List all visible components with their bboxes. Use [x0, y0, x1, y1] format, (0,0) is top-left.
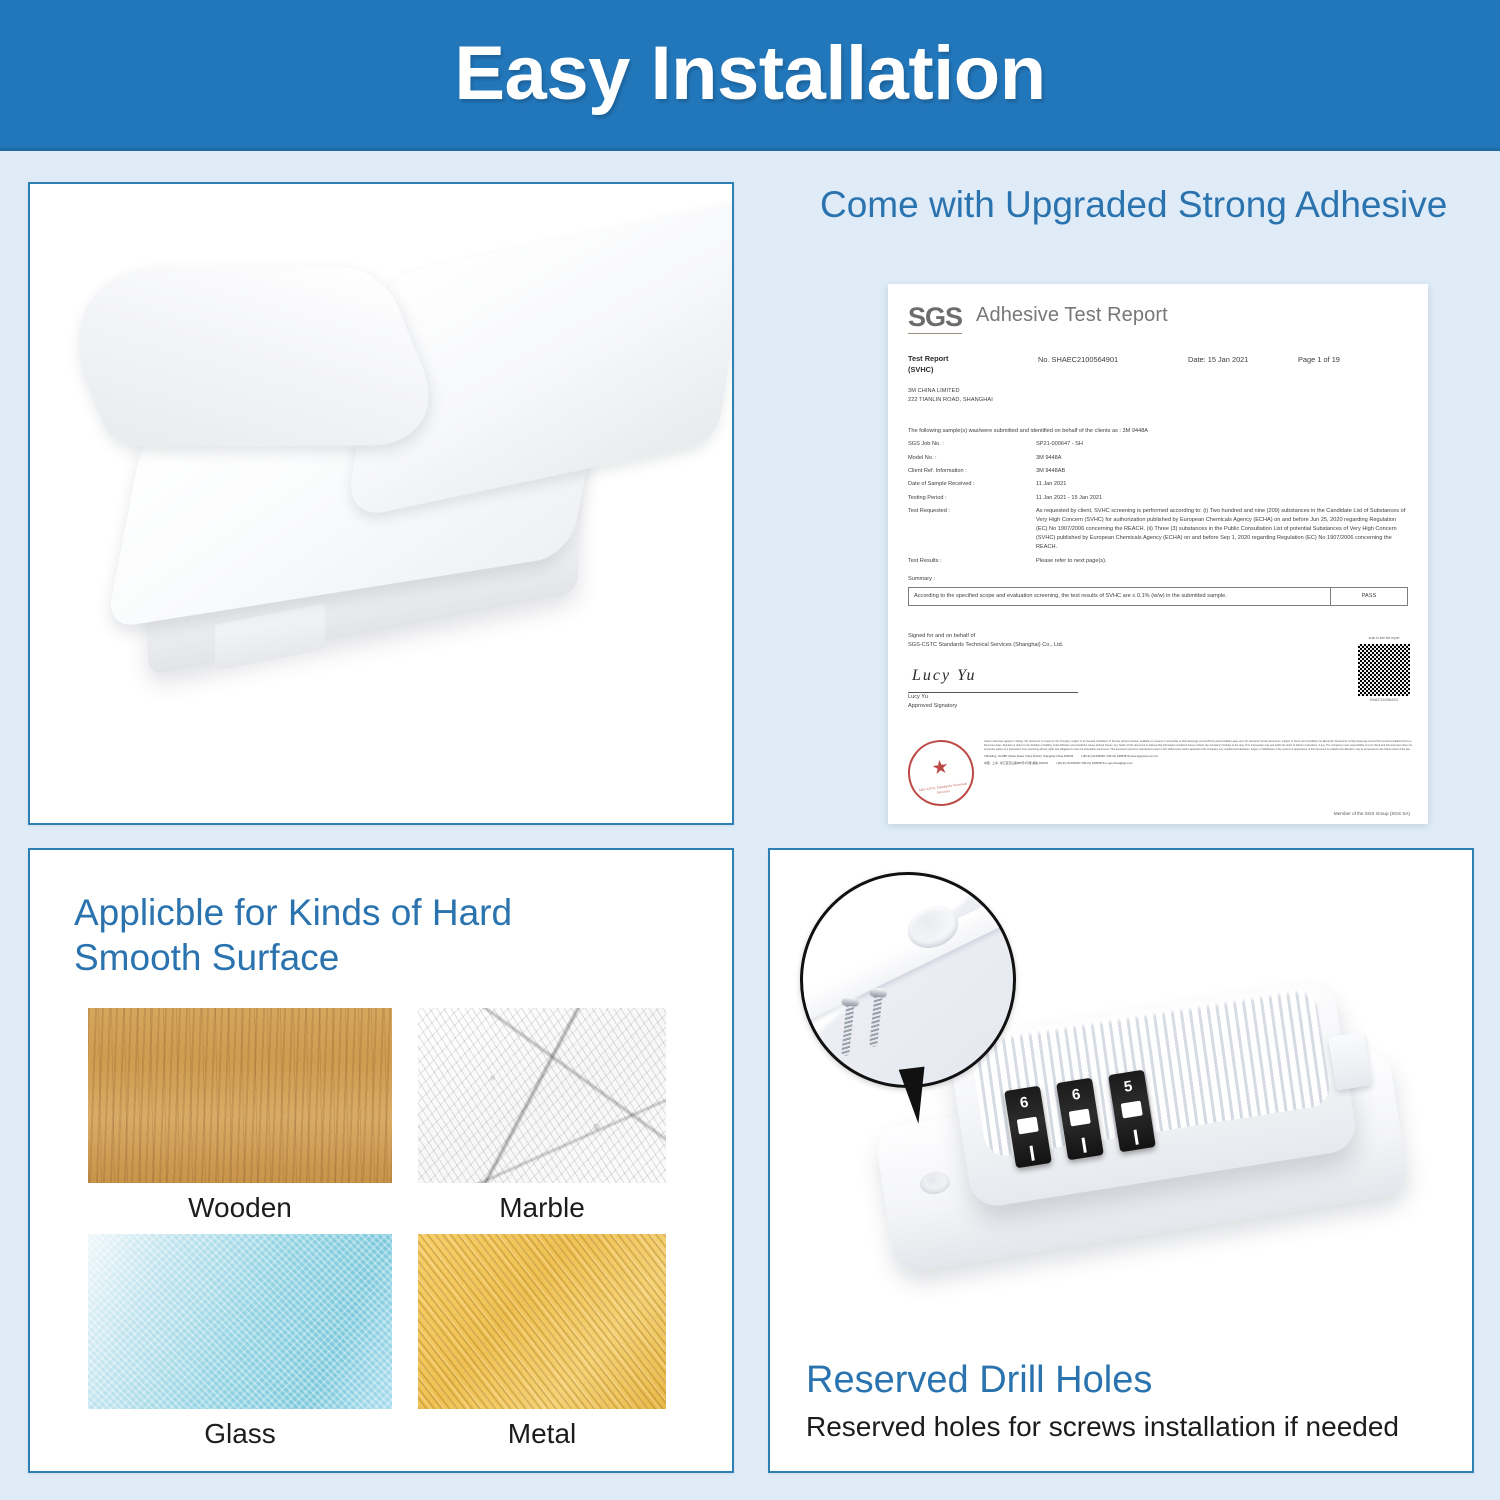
sgs-summary-label: Summary :	[908, 575, 1408, 583]
sgs-client-address: 3M CHINA LIMITED 222 TIANLIN ROAD, SHANG…	[908, 387, 1408, 404]
sgs-test-requested-value: As requested by client, SVHC screening i…	[1036, 507, 1408, 552]
sgs-test-results-key: Test Results :	[908, 557, 1036, 565]
swatch-item-wooden: Wooden	[88, 1008, 418, 1224]
screw-icon	[864, 987, 887, 1050]
sgs-field-row: Model No. : 3M 9448A	[908, 454, 1408, 462]
adhesive-product-illustration	[30, 184, 732, 823]
sgs-test-results-value: Please refer to next page(s).	[1036, 557, 1408, 565]
drill-holes-text-block: Reserved Drill Holes Reserved holes for …	[806, 1359, 1436, 1447]
swatch-item-metal: Metal	[418, 1234, 688, 1450]
sgs-contacts-row: 3 Building, No.889 Yishan Road, Xuhui Di…	[984, 754, 1412, 758]
swatch-label: Metal	[418, 1418, 666, 1450]
dial-digit: 6	[1019, 1095, 1030, 1111]
marble-texture-swatch	[418, 1008, 666, 1183]
dial-notch	[1133, 1130, 1138, 1145]
page-header: Easy Installation	[0, 0, 1500, 148]
dial-window	[1069, 1109, 1091, 1127]
swatch-item-glass: Glass	[88, 1234, 418, 1450]
dial-window	[1017, 1117, 1039, 1135]
sgs-field-value: 3M 9448AB	[1036, 467, 1408, 475]
sgs-field-value: 11 Jan 2021	[1036, 480, 1408, 488]
swatch-item-marble: Marble	[418, 1008, 688, 1224]
sgs-field-row: Date of Sample Received : 11 Jan 2021	[908, 480, 1408, 488]
applicable-surfaces-panel: Applicble for Kinds of Hard Smooth Surfa…	[28, 848, 734, 1473]
sgs-field-row: Testing Period : 11 Jan 2021 - 15 Jan 20…	[908, 494, 1408, 502]
sgs-field-key: SGS Job No. :	[908, 440, 1036, 448]
sgs-document-title: Adhesive Test Report	[976, 300, 1168, 334]
sgs-report-label-line1: Test Report	[908, 354, 1038, 365]
page-title: Easy Installation	[454, 36, 1045, 112]
glass-texture-swatch	[88, 1234, 392, 1409]
magnifier-callout-circle	[800, 872, 1016, 1088]
metal-texture-swatch	[418, 1234, 666, 1409]
sgs-summary-table: According to the specified scope and eva…	[908, 587, 1408, 606]
sgs-client-street: 222 TIANLIN ROAD, SHANGHAI	[908, 396, 1408, 405]
screw-shaft	[841, 1006, 854, 1057]
reserved-drill-holes-panel: 6 6 5 Reserved Drill Holes Reserved ho	[768, 848, 1474, 1473]
sgs-summary-result: PASS	[1331, 588, 1407, 605]
drill-holes-title: Reserved Drill Holes	[806, 1359, 1436, 1403]
sgs-contact-address-cn: 中国 · 上海 · 徐汇区宜山路889号3号楼 邮编 200233	[984, 761, 1048, 765]
header-divider	[0, 148, 1500, 151]
sgs-document-header: SGS Adhesive Test Report	[908, 300, 1408, 334]
sgs-intro-text: The following sample(s) was/were submitt…	[908, 427, 1408, 435]
dial-window	[1121, 1101, 1143, 1119]
swatch-label: Marble	[418, 1192, 666, 1224]
adhesive-text-section: Come with Upgraded Strong Adhesive SGS A…	[820, 182, 1460, 832]
sgs-field-key: Testing Period :	[908, 494, 1036, 502]
drill-holes-subtitle: Reserved holes for screws installation i…	[806, 1408, 1436, 1447]
sgs-test-requested-key: Test Requested :	[908, 507, 1036, 552]
sgs-meta-row: Test Report (SVHC) No. SHAEC2100564901 D…	[908, 354, 1408, 375]
adhesive-product-panel	[28, 182, 734, 825]
sgs-qr-caption-bottom: SHAEC2100564901	[1358, 698, 1410, 703]
sgs-logo: SGS	[908, 305, 962, 334]
sgs-test-requested-row: Test Requested : As requested by client,…	[908, 507, 1408, 552]
swatch-label: Glass	[88, 1418, 392, 1450]
sgs-signatory-title: Approved Signatory	[908, 702, 1408, 711]
magnified-plate-edge	[800, 873, 1016, 1028]
sgs-report-page: Page 1 of 19	[1298, 354, 1388, 375]
sgs-report-label: Test Report (SVHC)	[908, 354, 1038, 375]
sgs-document-footer: SGS-CSTC Standards Technical Services Un…	[908, 740, 1412, 806]
surfaces-heading: Applicble for Kinds of Hard Smooth Surfa…	[74, 890, 634, 980]
sgs-signature-block: Signed for and on behalf of SGS-CSTC Sta…	[908, 632, 1408, 711]
sgs-field-key: Date of Sample Received :	[908, 480, 1036, 488]
sgs-qr-caption-top: scan to see the report	[1358, 636, 1410, 641]
adhesive-heading: Come with Upgraded Strong Adhesive	[820, 182, 1460, 227]
dial-notch	[1029, 1146, 1034, 1161]
dial-digit: 6	[1071, 1087, 1082, 1103]
sgs-stamp-text: SGS-CSTC Standards Technical Services	[912, 781, 975, 799]
sgs-summary-text: According to the specified scope and eva…	[909, 588, 1331, 605]
sgs-signed-line2: SGS-CSTC Standards Technical Services (S…	[908, 641, 1408, 650]
sgs-field-value: 11 Jan 2021 - 15 Jan 2021	[1036, 494, 1408, 502]
sgs-report-date: Date: 15 Jan 2021	[1188, 354, 1298, 375]
lock-latch	[1328, 1032, 1372, 1091]
sgs-red-stamp-icon: SGS-CSTC Standards Technical Services	[904, 736, 979, 811]
sgs-field-key: Model No. :	[908, 454, 1036, 462]
sgs-field-row: SGS Job No. : SP21-000647 - SH	[908, 440, 1408, 448]
sgs-field-value: SP21-000647 - SH	[1036, 440, 1408, 448]
sgs-report-label-line2: (SVHC)	[908, 365, 1038, 376]
sgs-field-value: 3M 9448A	[1036, 454, 1408, 462]
sgs-signatory-name: Lucy Yu	[908, 693, 1408, 702]
sgs-client-name: 3M CHINA LIMITED	[908, 387, 1408, 396]
screw-icon	[836, 996, 859, 1059]
surface-swatch-grid: Wooden Marble Glass Metal	[88, 1008, 688, 1450]
sgs-member-note: Member of the SGS Group (SGS SA)	[1334, 811, 1410, 818]
sgs-field-key: Client Ref. Information :	[908, 467, 1036, 475]
screw-shaft	[869, 997, 882, 1048]
sgs-test-report-document: SGS Adhesive Test Report Test Report (SV…	[888, 284, 1428, 824]
wood-texture-swatch	[88, 1008, 392, 1183]
sgs-fineprint: Unless otherwise agreed in writing, this…	[984, 740, 1412, 751]
sgs-contact-address-en: 3 Building, No.889 Yishan Road, Xuhui Di…	[984, 754, 1073, 758]
dial-digit: 5	[1123, 1079, 1134, 1095]
sgs-contact-phone-cn: t (86-21) 61402666 f (86-21) 64953679 e …	[1056, 761, 1133, 765]
sgs-field-row: Client Ref. Information : 3M 9448AB	[908, 467, 1408, 475]
sgs-handwritten-signature: Lucy Yu	[912, 663, 1408, 689]
swatch-label: Wooden	[88, 1192, 392, 1224]
sgs-contacts-row: 中国 · 上海 · 徐汇区宜山路889号3号楼 邮编 200233 t (86-…	[984, 761, 1412, 765]
dial-notch	[1081, 1138, 1086, 1153]
sgs-contact-phone-en: t (86-21) 61402666 f (86-21) 64953679 ww…	[1081, 754, 1158, 758]
qr-code-icon	[1358, 644, 1410, 696]
sgs-signed-line1: Signed for and on behalf of	[908, 632, 1408, 641]
sgs-test-results-row: Test Results : Please refer to next page…	[908, 557, 1408, 565]
sgs-report-number: No. SHAEC2100564901	[1038, 354, 1188, 375]
